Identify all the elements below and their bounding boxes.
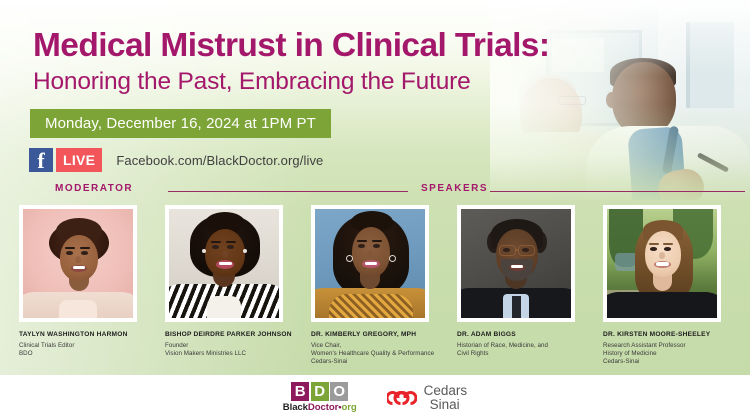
speaker-role: Research Assistant Professor History of … — [603, 342, 721, 366]
speakers-label: SPEAKERS — [421, 183, 488, 194]
cedars-line: Cedars — [424, 384, 468, 398]
list-item[interactable]: BISHOP DEIRDRE PARKER JOHNSON Founder Vi… — [165, 205, 283, 358]
sinai-line: Sinai — [424, 398, 468, 412]
page-title: Medical Mistrust in Clinical Trials: Hon… — [33, 26, 549, 97]
bdo-tile-o: O — [330, 382, 348, 401]
title-subtitle: Honoring the Past, Embracing the Future — [33, 67, 549, 97]
speaker-name: DR. KIMBERLY GREGORY, MPH — [311, 330, 429, 339]
speaker-name: TAYLYN WASHINGTON HARMON — [19, 330, 137, 339]
speaker-role: Vice Chair, Women's Healthcare Quality &… — [311, 342, 429, 366]
facebook-live-row: f LIVE Facebook.com/BlackDoctor.org/live — [29, 148, 323, 172]
bdo-word-org: org — [342, 402, 357, 413]
blackdoctor-org-logo[interactable]: B D O BlackDoctor•org — [283, 382, 357, 413]
cedars-sinai-logo[interactable]: Cedars Sinai — [387, 384, 468, 411]
speaker-role: Historian of Race, Medicine, and Civil R… — [457, 342, 575, 358]
portrait-dr-kirsten-moore-sheeley — [607, 209, 717, 318]
portrait-bishop-deirdre-parker-johnson — [169, 209, 279, 318]
speaker-name: DR. ADAM BIGGS — [457, 330, 575, 339]
list-item[interactable]: TAYLYN WASHINGTON HARMON Clinical Trials… — [19, 205, 137, 358]
facebook-icon[interactable]: f — [29, 148, 53, 172]
photo-frame — [311, 205, 429, 322]
list-item[interactable]: DR. KIMBERLY GREGORY, MPH Vice Chair, Wo… — [311, 205, 429, 366]
speaker-name: DR. KIRSTEN MOORE-SHEELEY — [603, 330, 721, 339]
list-item[interactable]: DR. KIRSTEN MOORE-SHEELEY Research Assis… — [603, 205, 721, 366]
list-item[interactable]: DR. ADAM BIGGS Historian of Race, Medici… — [457, 205, 575, 358]
event-date-banner: Monday, December 16, 2024 at 1PM PT — [30, 109, 331, 138]
photo-frame — [165, 205, 283, 322]
facebook-live-url[interactable]: Facebook.com/BlackDoctor.org/live — [116, 153, 323, 168]
speaker-name: BISHOP DEIRDRE PARKER JOHNSON — [165, 330, 283, 339]
speakers-divider — [490, 191, 745, 192]
photo-frame — [457, 205, 575, 322]
bdo-tile-b: B — [291, 382, 309, 401]
cedars-sinai-infinity-icon — [387, 386, 417, 410]
bdo-tile-d: D — [311, 382, 329, 401]
webinar-promo-poster: Medical Mistrust in Clinical Trials: Hon… — [0, 0, 750, 420]
speaker-role: Clinical Trials Editor BDO — [19, 342, 137, 358]
cedars-sinai-wordmark: Cedars Sinai — [424, 384, 468, 411]
portrait-taylyn-washington-harmon — [23, 209, 133, 318]
bdo-word-black: Black — [283, 402, 308, 413]
title-main: Medical Mistrust in Clinical Trials: — [33, 26, 549, 66]
photo-frame — [19, 205, 137, 322]
bdo-wordmark: BlackDoctor•org — [283, 402, 357, 413]
live-badge: LIVE — [56, 148, 102, 172]
bdo-word-doctor: Doctor — [308, 402, 338, 413]
footer-logo-row: B D O BlackDoctor•org Cedars Sinai — [0, 375, 750, 420]
portrait-dr-adam-biggs — [461, 209, 571, 318]
portrait-dr-kimberly-gregory — [315, 209, 425, 318]
moderator-label: MODERATOR — [55, 183, 133, 194]
facebook-letter: f — [37, 149, 44, 173]
section-header-row: MODERATOR SPEAKERS — [0, 183, 750, 199]
speaker-role: Founder Vision Makers Ministries LLC — [165, 342, 283, 358]
speaker-card-row: TAYLYN WASHINGTON HARMON Clinical Trials… — [0, 205, 750, 375]
moderator-divider — [168, 191, 408, 192]
photo-frame — [603, 205, 721, 322]
